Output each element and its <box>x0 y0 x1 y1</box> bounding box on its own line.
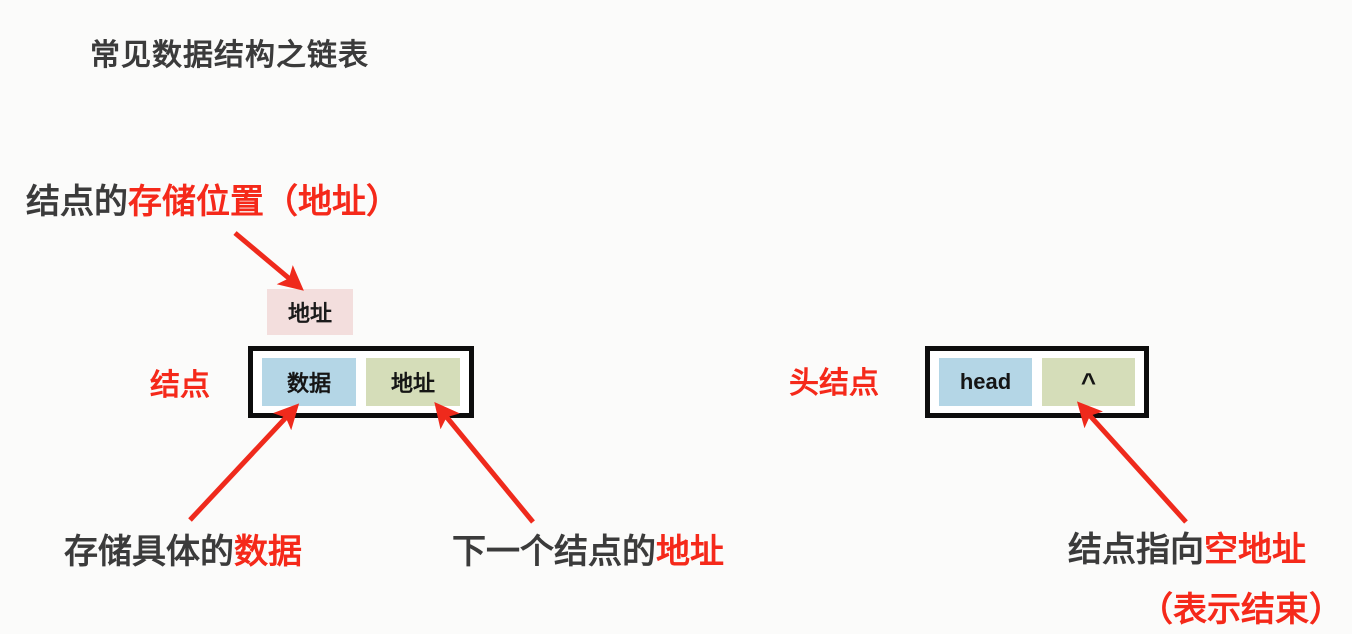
callout-storage-position: 结点的存储位置（地址） <box>26 174 400 223</box>
callout-store-data: 存储具体的数据 <box>64 524 302 573</box>
node-data-cell-label: 数据 <box>287 366 331 398</box>
callout-null-address-plain: 结点指向 <box>1068 531 1204 569</box>
node-address-cell-label: 地址 <box>391 366 435 398</box>
node-address-cell: 地址 <box>366 358 460 406</box>
callout-next-address-highlight: 地址 <box>656 533 724 571</box>
slide-canvas: 常见数据结构之链表 结点的存储位置（地址） 地址 结点 数据 地址 头结点 he… <box>0 0 1352 634</box>
linked-list-node: 数据 地址 <box>248 346 474 418</box>
page-title: 常见数据结构之链表 <box>90 30 369 74</box>
arrow-null-address <box>1083 408 1186 522</box>
arrow-next-address <box>440 409 533 522</box>
callout-storage-position-plain: 结点的 <box>26 183 128 221</box>
head-node: head ^ <box>925 346 1149 418</box>
label-head-node: 头结点 <box>789 358 879 402</box>
label-node: 结点 <box>150 360 210 404</box>
callout-store-data-plain: 存储具体的 <box>64 533 234 571</box>
callout-null-address: 结点指向空地址 <box>1068 522 1306 571</box>
address-tag-label: 地址 <box>288 296 332 328</box>
head-node-address-cell: ^ <box>1042 358 1135 406</box>
callout-next-address-plain: 下一个结点的 <box>452 533 656 571</box>
callout-store-data-highlight: 数据 <box>234 533 302 571</box>
head-node-data-cell-label: head <box>960 369 1011 395</box>
callout-means-end: （表示结束） <box>1139 582 1343 631</box>
node-data-cell: 数据 <box>262 358 356 406</box>
address-tag-box: 地址 <box>267 289 353 335</box>
head-node-data-cell: head <box>939 358 1032 406</box>
callout-storage-position-highlight: 存储位置（地址） <box>128 183 400 221</box>
head-node-caret-label: ^ <box>1081 367 1096 398</box>
callout-next-address: 下一个结点的地址 <box>452 524 724 573</box>
callout-null-address-highlight: 空地址 <box>1204 531 1306 569</box>
arrow-storage-position <box>235 233 297 285</box>
arrow-store-data <box>190 410 293 520</box>
